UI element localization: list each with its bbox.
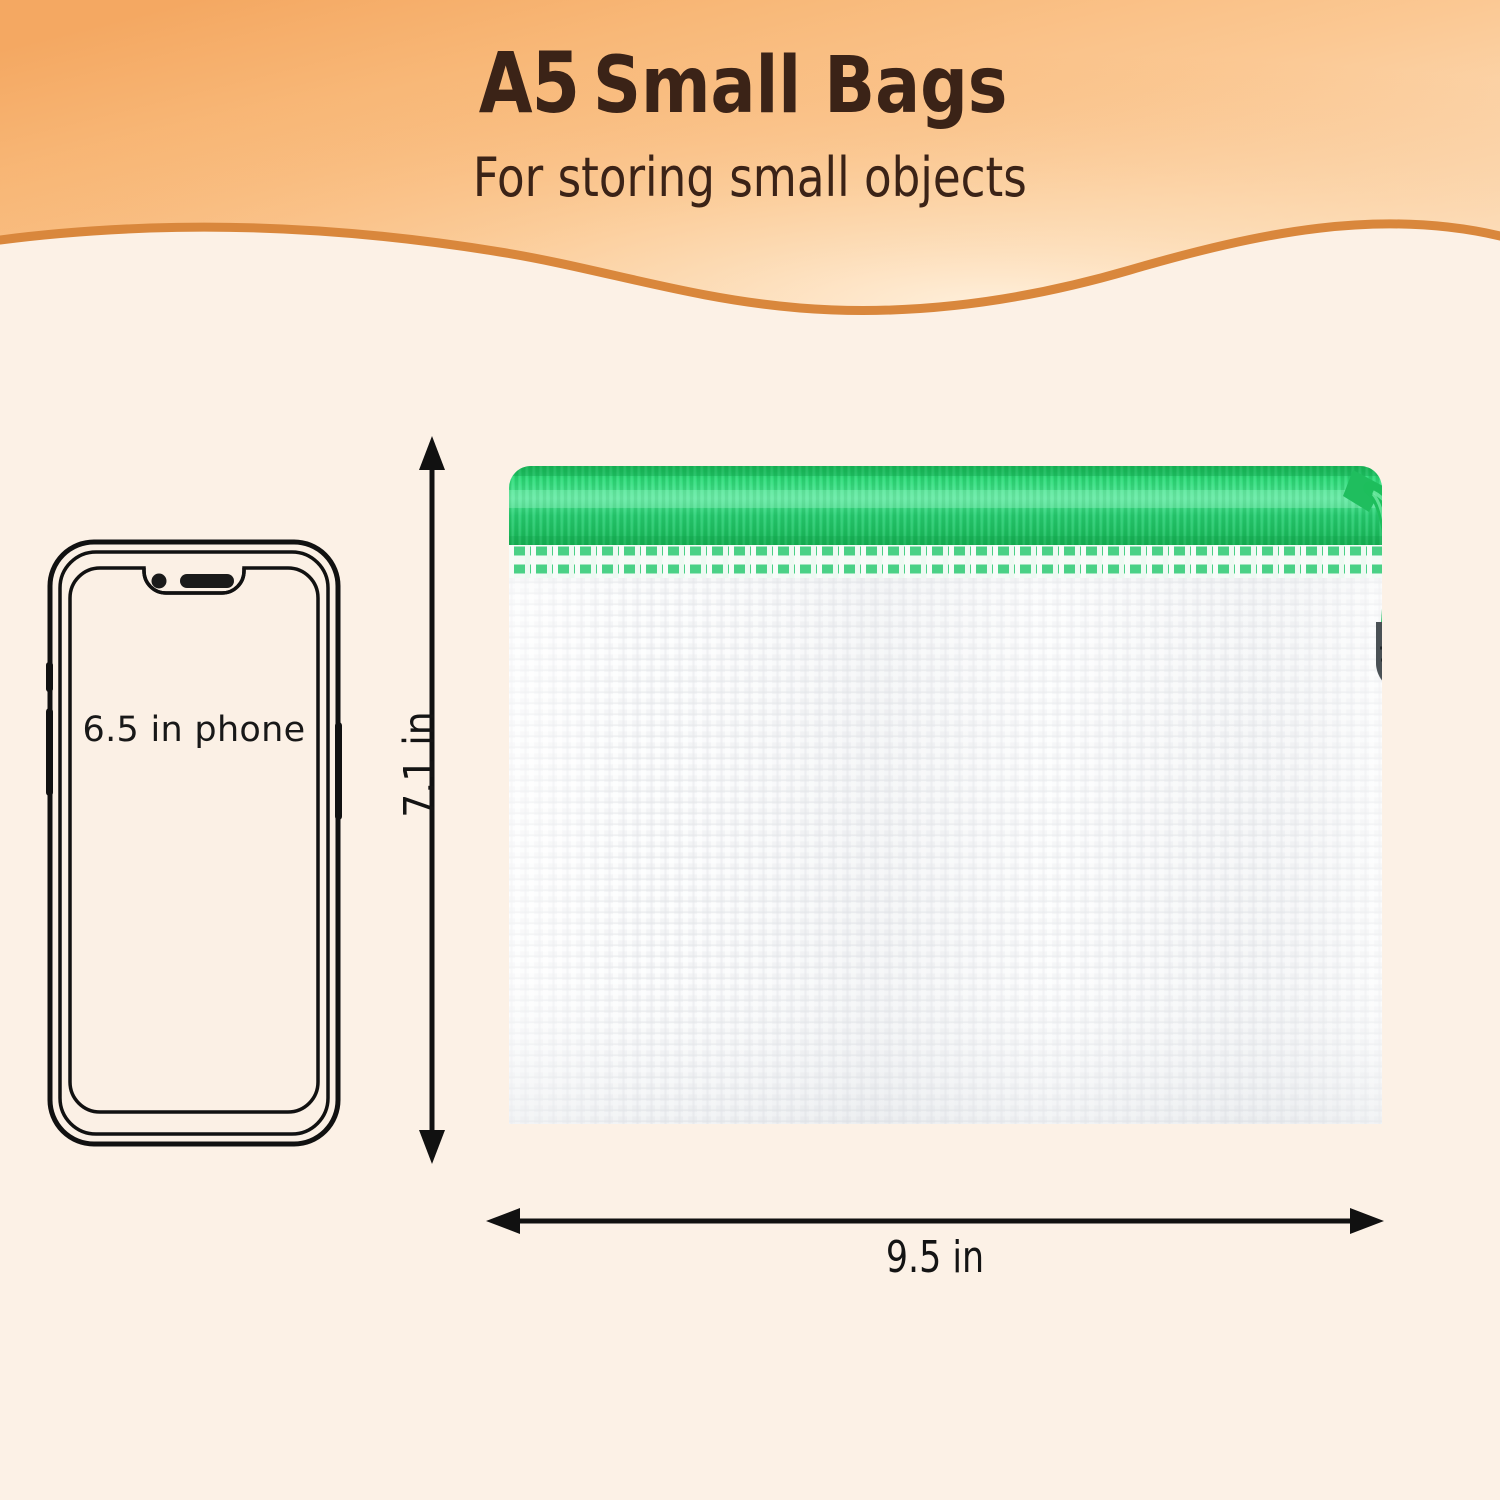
phone-front-camera-icon (152, 574, 167, 589)
mesh-zipper-bag (487, 452, 1382, 1142)
height-dimension-label: 7.1 in (395, 705, 444, 825)
arrow-head-left (486, 1208, 520, 1234)
header-banner: A5 Small Bags For storing small objects (0, 0, 1500, 320)
banner-fill (0, 0, 1500, 320)
infographic-canvas: A5 Small Bags For storing small objects (0, 0, 1500, 1500)
arrow-head-up (419, 436, 445, 470)
arrow-head-right (1350, 1208, 1384, 1234)
bag-zipper (501, 464, 1382, 546)
bag-green-mesh-band (501, 545, 1382, 579)
phone-screen (70, 568, 318, 1112)
phone-illustration (34, 536, 354, 1150)
bag-body-mesh (501, 544, 1382, 1128)
phone-size-label: 6.5 in phone (34, 710, 354, 750)
arrow-head-down (419, 1130, 445, 1164)
phone-earpiece-speaker (180, 574, 234, 588)
phone-mute-switch (46, 662, 53, 692)
width-dimension-label: 9.5 in (526, 1232, 1344, 1283)
